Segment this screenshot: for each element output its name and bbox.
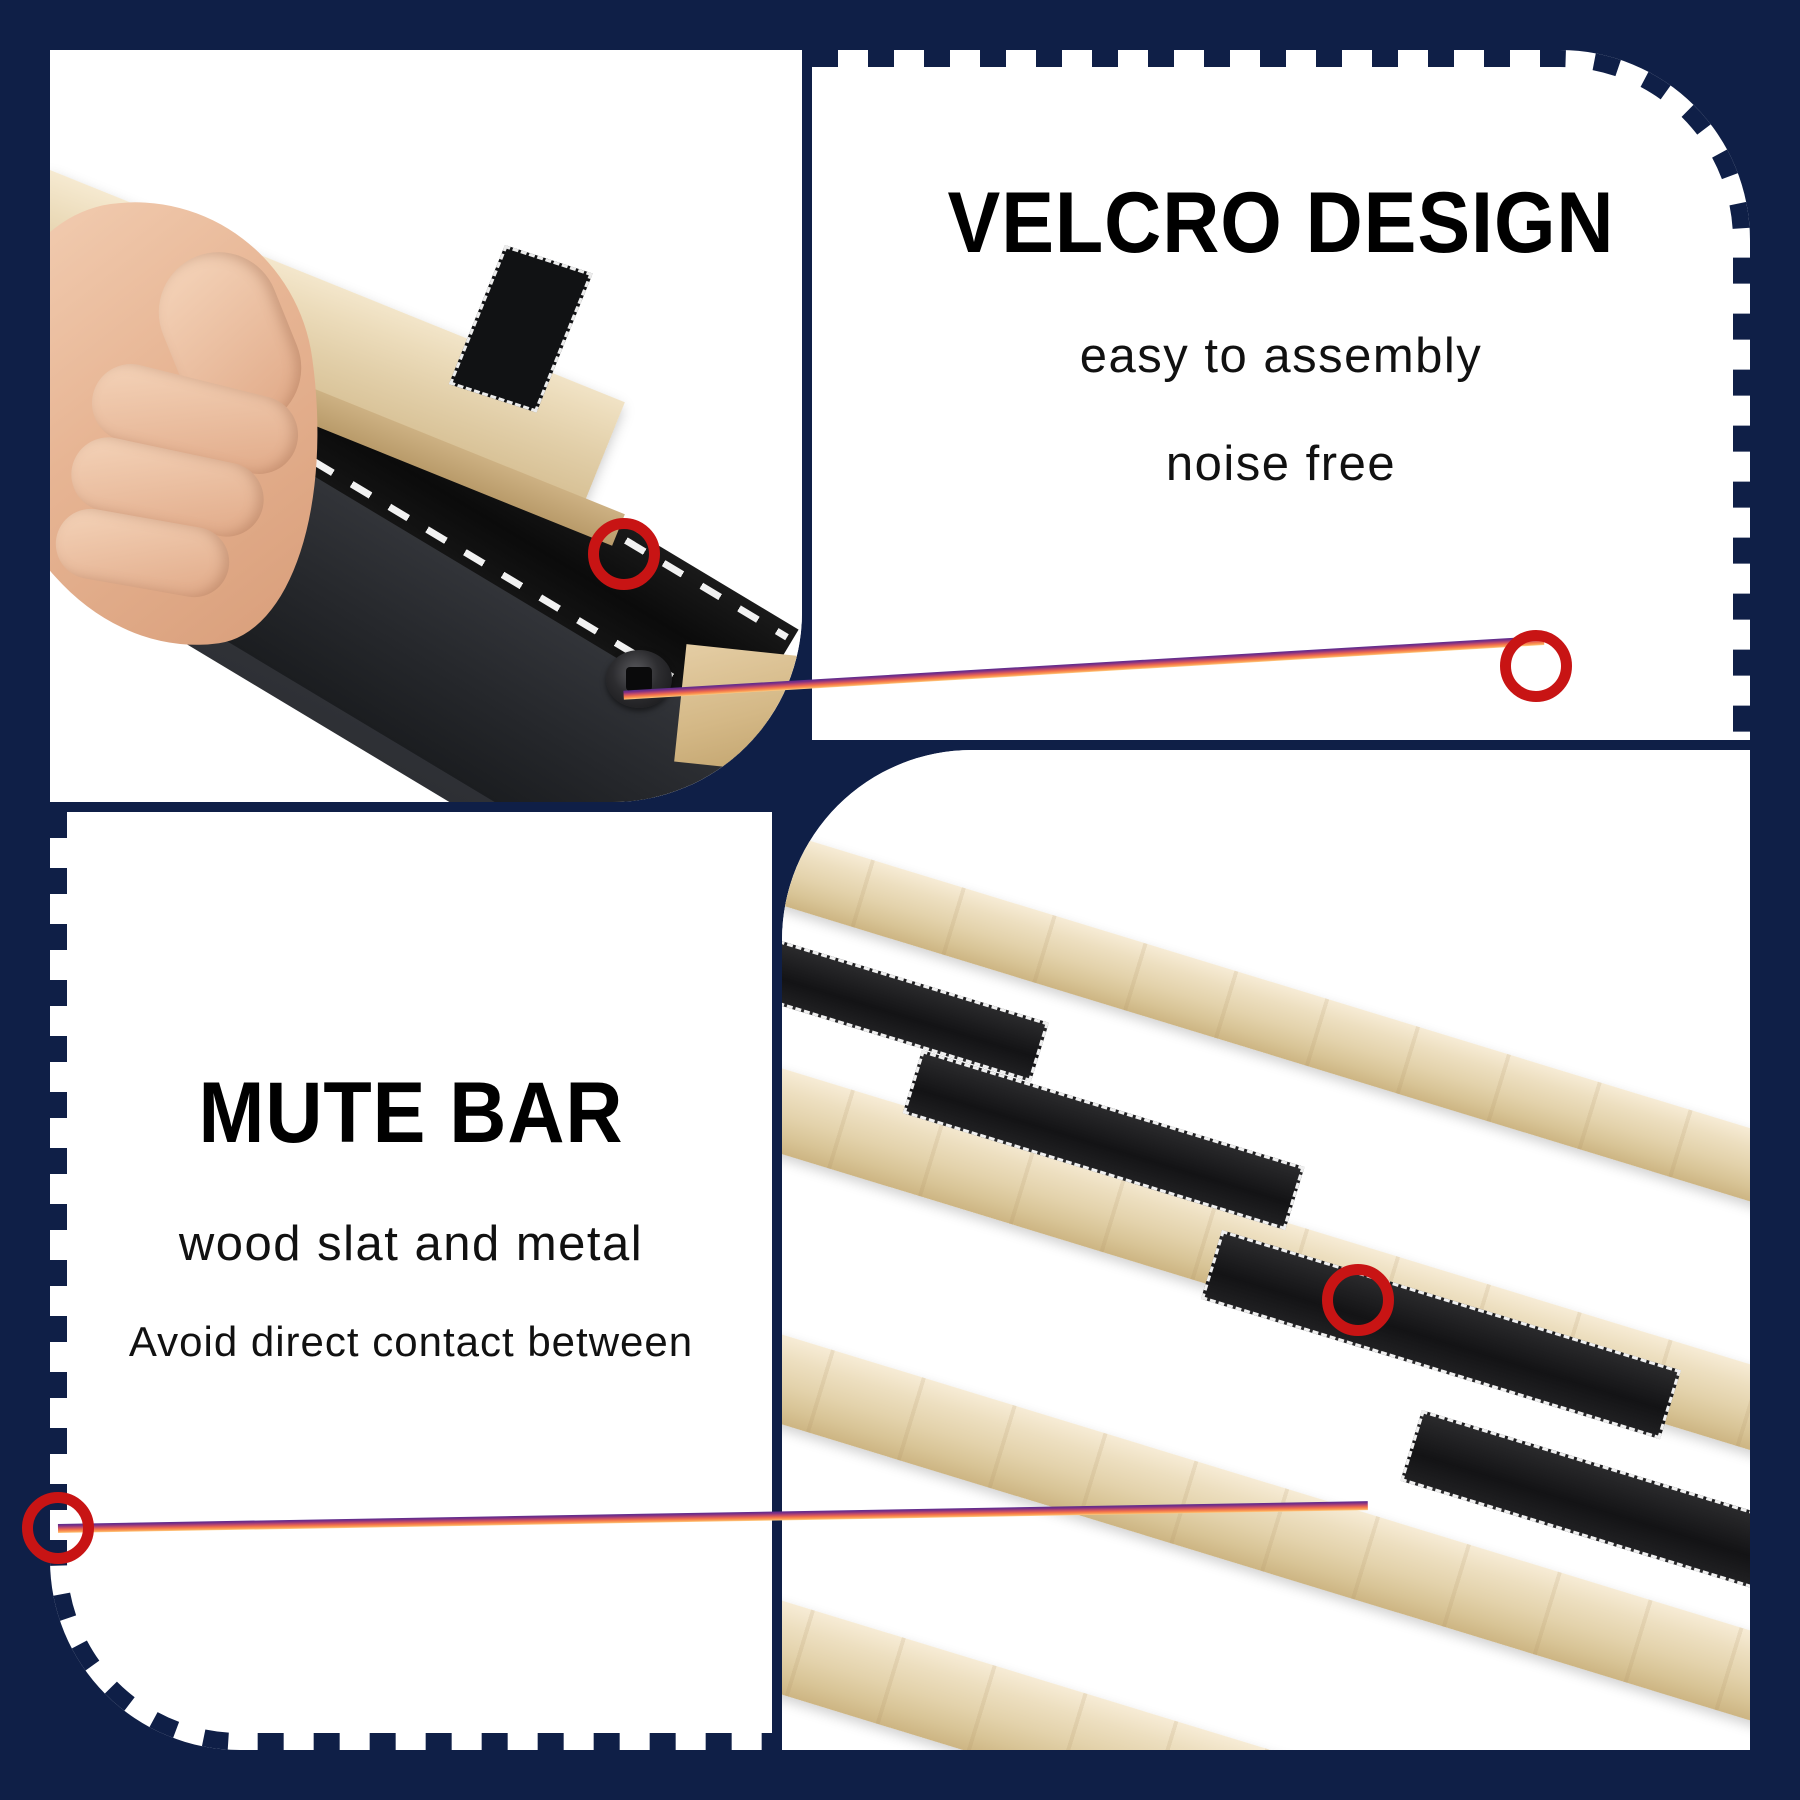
mute-bar-subline-2: Avoid direct contact between [50,1318,772,1366]
mute-bar-text-block: MUTE BAR wood slat and metal Avoid direc… [50,1070,772,1366]
velcro-text-block: VELCRO DESIGN easy to assembly noise fre… [812,180,1750,492]
mute-bar-headline: MUTE BAR [79,1070,743,1156]
slats-photo-panel [782,750,1750,1750]
slats-closeup-photo [782,750,1750,1750]
velcro-subline-2: noise free [812,436,1750,492]
plastic-grommet [606,650,672,708]
velcro-headline: VELCRO DESIGN [850,180,1713,266]
velcro-subline-1: easy to assembly [812,328,1750,384]
velcro-photo-panel [50,50,802,802]
velcro-closeup-photo [50,50,802,802]
mute-bar-subline-1: wood slat and metal [50,1216,772,1272]
infographic-canvas: VELCRO DESIGN easy to assembly noise fre… [0,0,1800,1800]
